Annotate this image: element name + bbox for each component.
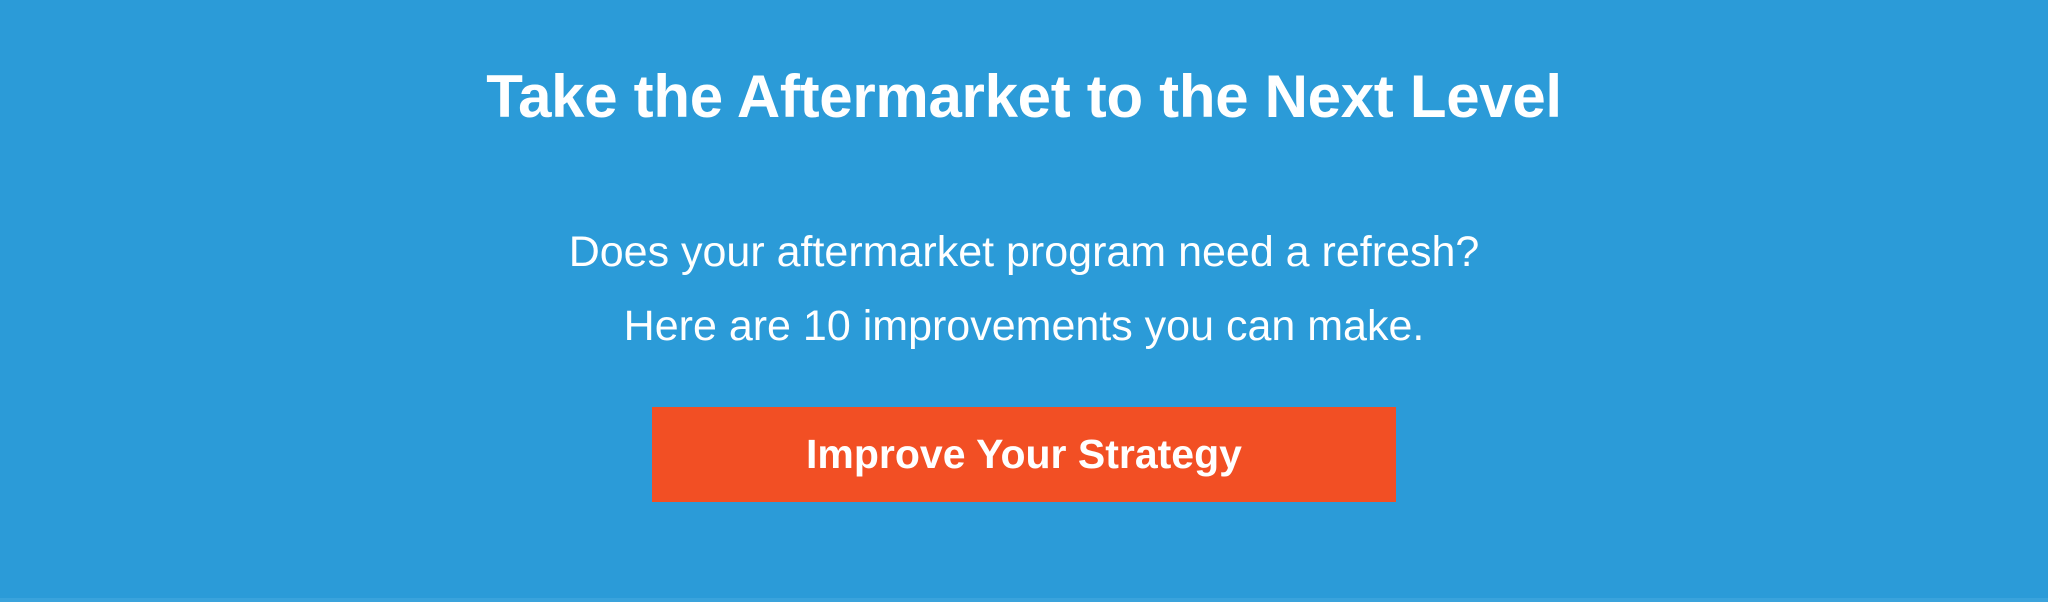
banner-subheadline-line-2: Here are 10 improvements you can make. [0,289,2048,363]
banner-subheadline: Does your aftermarket program need a ref… [0,215,2048,363]
cta-banner: Take the Aftermarket to the Next Level D… [0,0,2048,602]
improve-your-strategy-button[interactable]: Improve Your Strategy [652,407,1396,502]
banner-subheadline-line-1: Does your aftermarket program need a ref… [0,215,2048,289]
banner-headline: Take the Aftermarket to the Next Level [0,62,2048,133]
cta-button-container: Improve Your Strategy [0,407,2048,502]
banner-bottom-edge [0,598,2048,602]
